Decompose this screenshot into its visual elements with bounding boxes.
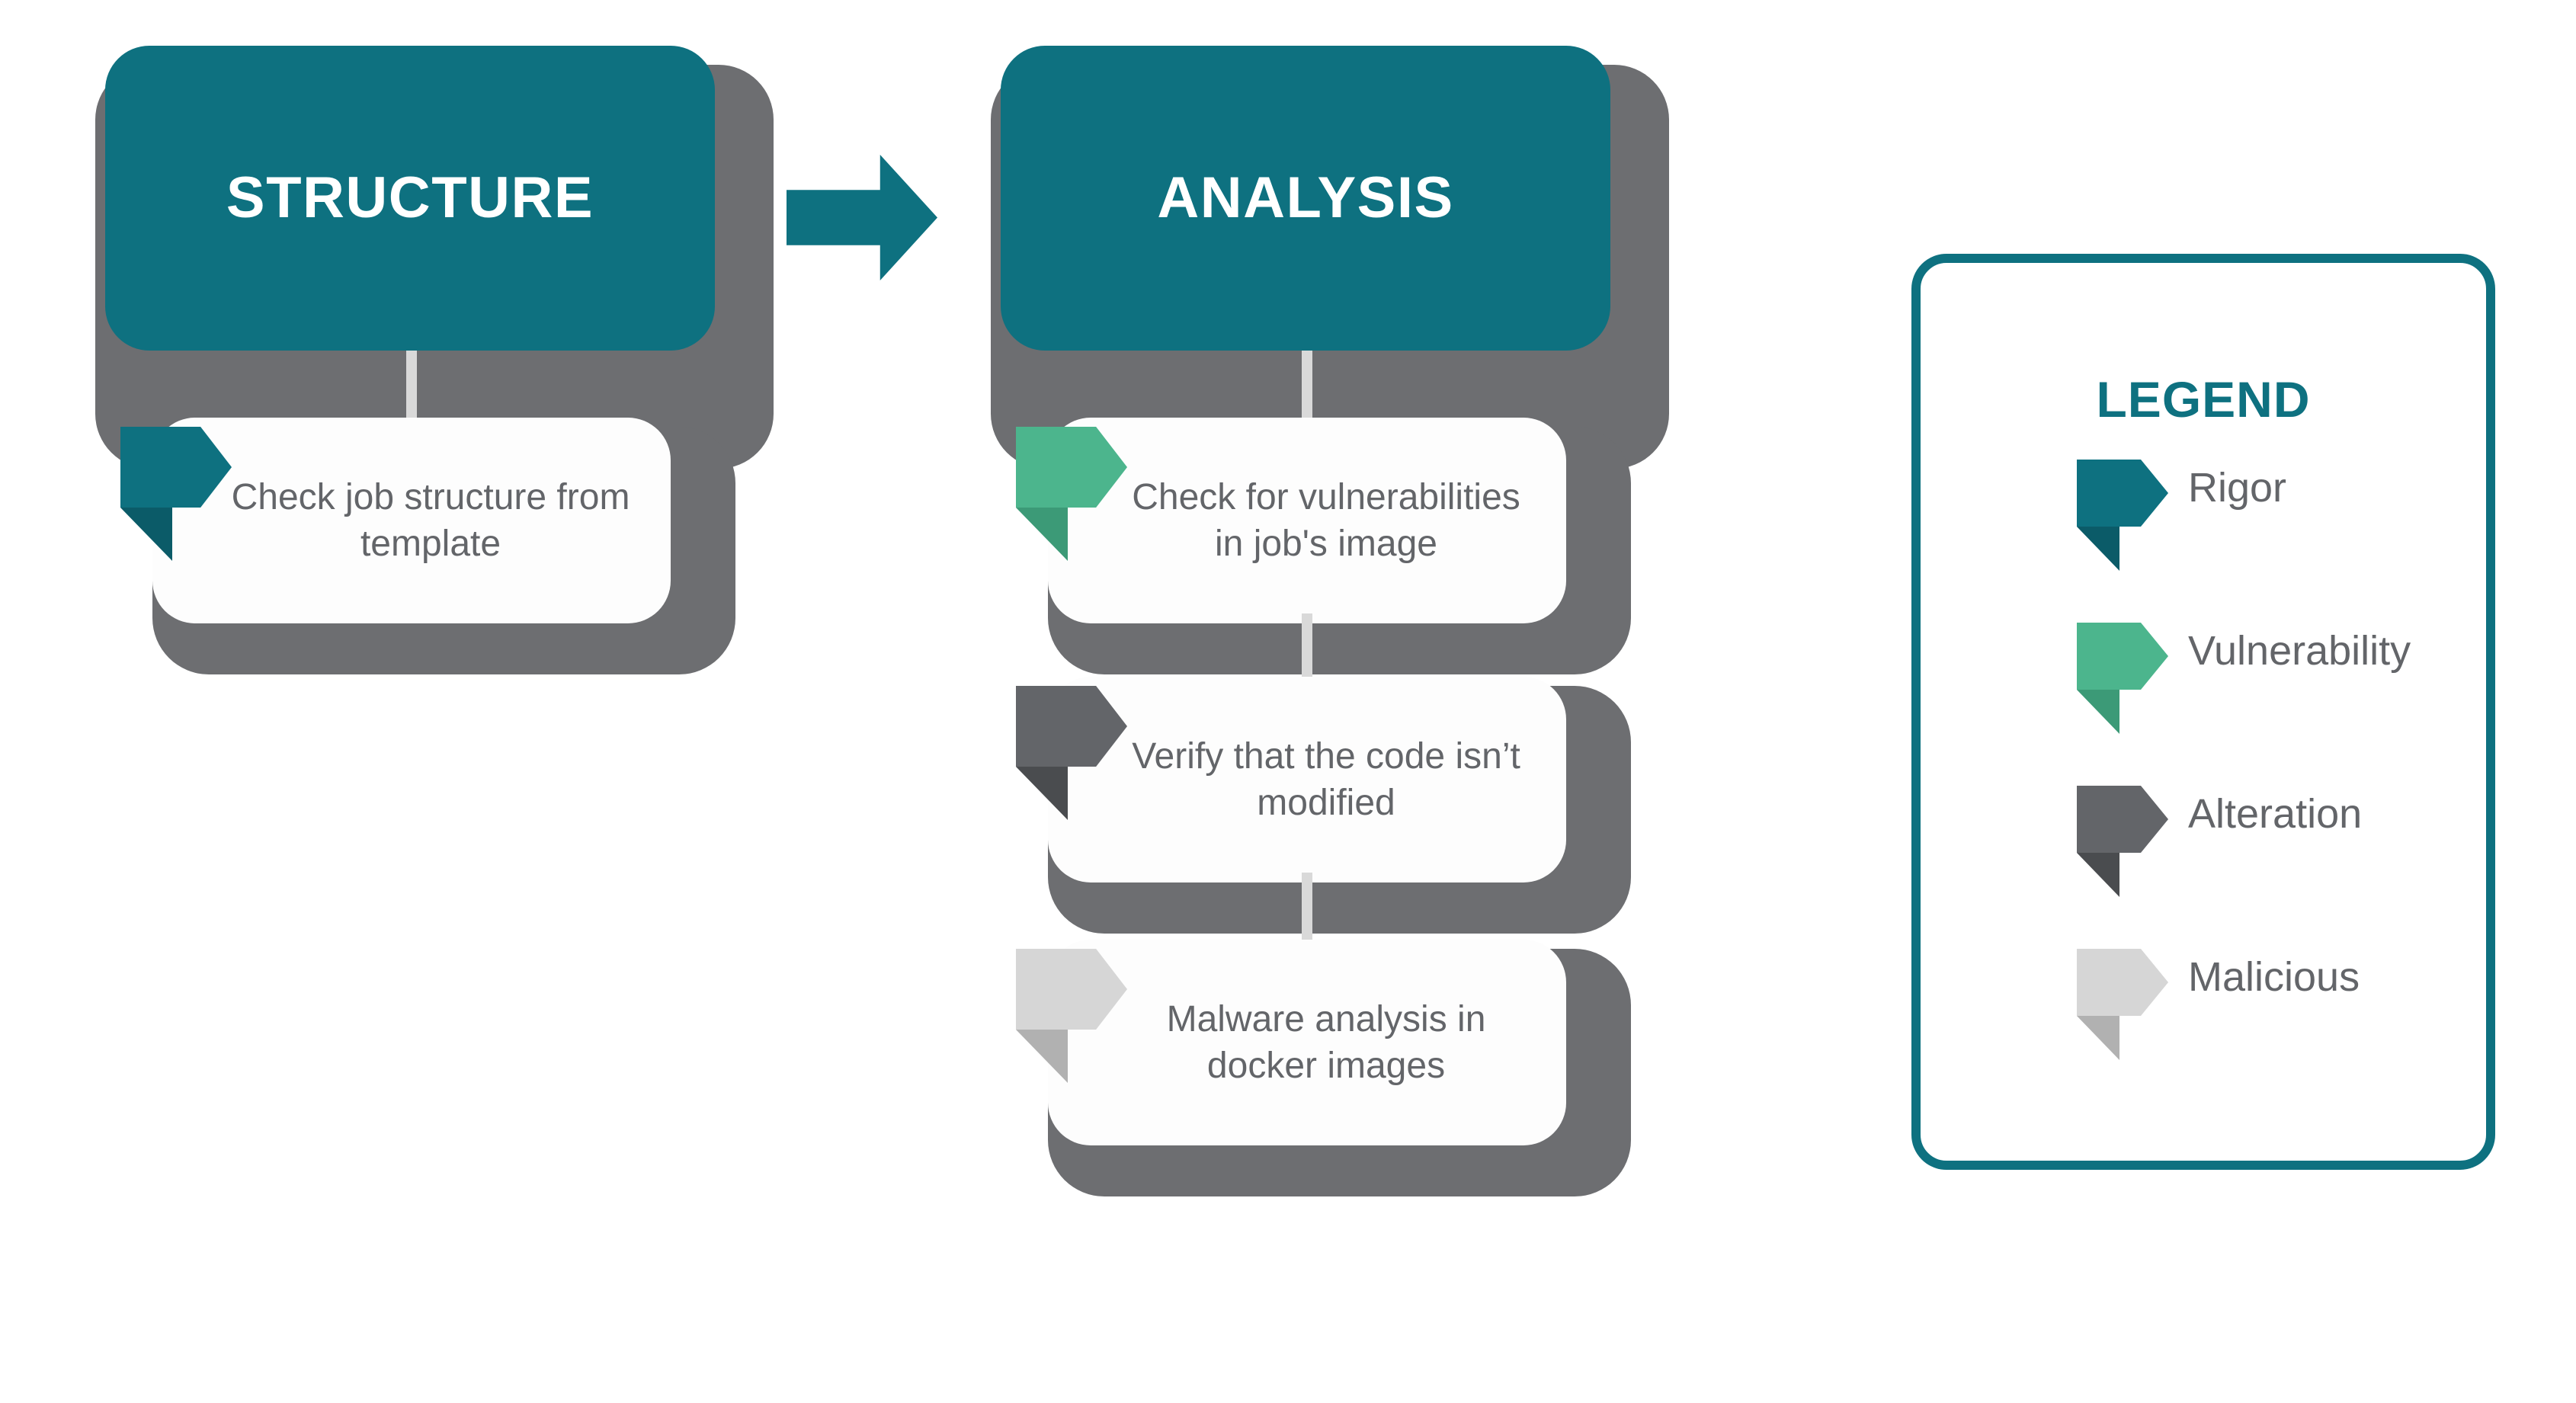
marker-flag xyxy=(1016,427,1127,508)
legend-item-alteration[interactable]: Alteration xyxy=(2077,786,2473,900)
legend-title: LEGEND xyxy=(1921,374,2486,424)
marker-fold xyxy=(1016,508,1068,561)
section-header-analysis: ANALYSIS xyxy=(1001,46,1610,351)
legend-item-vulnerability[interactable]: Vulnerability xyxy=(2077,623,2473,737)
legend-item-label: Malicious xyxy=(2188,956,2360,998)
marker-flag xyxy=(2077,949,2168,1016)
marker-fold xyxy=(1016,767,1068,820)
section-header-structure: STRUCTURE xyxy=(105,46,715,351)
section-analysis: ANALYSIS Check for vulnerabilities in jo… xyxy=(956,0,1795,1296)
legend-item-label: Rigor xyxy=(2188,467,2286,508)
marker-rigor-icon xyxy=(2077,460,2168,549)
legend-panel: LEGEND Rigor Vulnerability Alteration xyxy=(1911,254,2495,1170)
marker-vulnerability-icon xyxy=(1016,427,1127,533)
marker-flag xyxy=(2077,460,2168,527)
marker-flag xyxy=(2077,786,2168,853)
marker-fold xyxy=(1016,1030,1068,1083)
marker-rigor-icon xyxy=(120,427,232,533)
marker-fold xyxy=(2077,1016,2119,1060)
marker-alteration-icon xyxy=(2077,786,2168,876)
legend-item-label: Vulnerability xyxy=(2188,630,2411,671)
legend-item-malicious[interactable]: Malicious xyxy=(2077,949,2473,1063)
legend-item-label: Alteration xyxy=(2188,793,2362,834)
marker-flag xyxy=(1016,949,1127,1030)
marker-malicious-icon xyxy=(2077,949,2168,1039)
diagram-canvas: STRUCTURE Check job structure from templ… xyxy=(0,0,2576,1403)
section-structure: STRUCTURE Check job structure from templ… xyxy=(0,0,838,732)
section-title-structure: STRUCTURE xyxy=(226,169,594,227)
marker-alteration-icon xyxy=(1016,686,1127,793)
marker-fold xyxy=(120,508,172,561)
marker-vulnerability-icon xyxy=(2077,623,2168,713)
marker-fold xyxy=(2077,690,2119,734)
legend-item-rigor[interactable]: Rigor xyxy=(2077,460,2473,574)
section-title-analysis: ANALYSIS xyxy=(1157,169,1453,227)
marker-flag xyxy=(2077,623,2168,690)
marker-fold xyxy=(2077,527,2119,571)
marker-malicious-icon xyxy=(1016,949,1127,1055)
marker-flag xyxy=(1016,686,1127,767)
marker-fold xyxy=(2077,853,2119,897)
marker-flag xyxy=(120,427,232,508)
